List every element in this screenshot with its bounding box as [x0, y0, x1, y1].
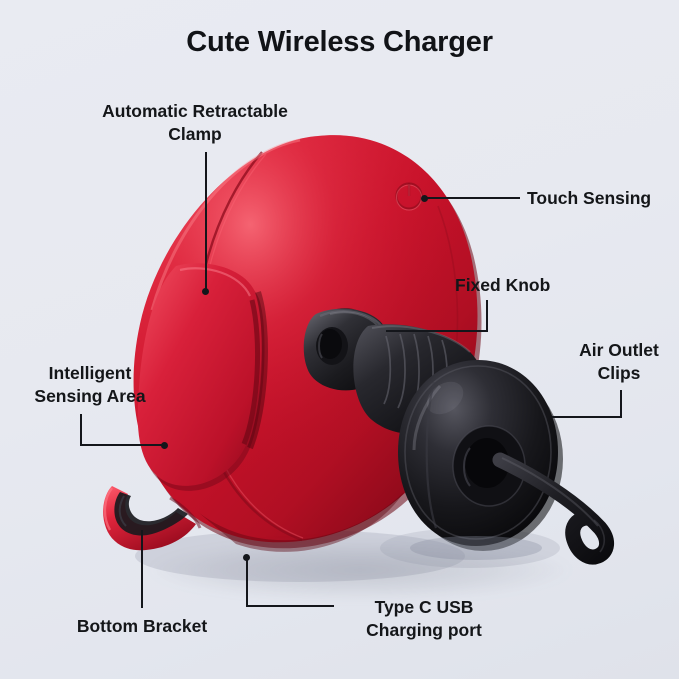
product-diagram: Cute Wireless Charger [0, 0, 679, 679]
vent-clip-disc [398, 360, 563, 551]
callout-label-fixed-knob: Fixed Knob [455, 274, 585, 297]
floor-shadow [150, 540, 570, 600]
leader-line-intelligent-sensing-area-horizontal [80, 444, 165, 446]
leader-line-air-outlet-clips-vertical [620, 390, 622, 418]
callout-label-touch-sensing: Touch Sensing [527, 187, 677, 210]
leader-line-intelligent-sensing-area-vertical [80, 414, 82, 446]
callout-label-automatic-retractable-clamp: Automatic Retractable Clamp [95, 100, 295, 146]
leader-line-type-c-usb-vertical [246, 557, 248, 607]
leader-line-fixed-knob-vertical [486, 300, 488, 332]
leader-line-automatic-retractable-clamp [205, 152, 207, 292]
callout-label-type-c-usb-charging-port: Type C USB Charging port [340, 596, 508, 642]
leader-dot-automatic-retractable-clamp [202, 288, 209, 295]
leader-line-type-c-usb-horizontal [246, 605, 334, 607]
leader-line-touch-sensing [425, 197, 520, 199]
leader-dot-intelligent-sensing-area [161, 442, 168, 449]
leader-line-air-outlet-clips-horizontal [552, 416, 622, 418]
callout-label-bottom-bracket: Bottom Bracket [62, 615, 222, 638]
callout-label-air-outlet-clips: Air Outlet Clips [564, 339, 674, 385]
leader-line-fixed-knob-horizontal [386, 330, 488, 332]
callout-label-intelligent-sensing-area: Intelligent Sensing Area [22, 362, 158, 408]
leader-dot-touch-sensing [421, 195, 428, 202]
power-symbol-icon [397, 183, 422, 210]
leader-line-bottom-bracket [141, 530, 143, 608]
